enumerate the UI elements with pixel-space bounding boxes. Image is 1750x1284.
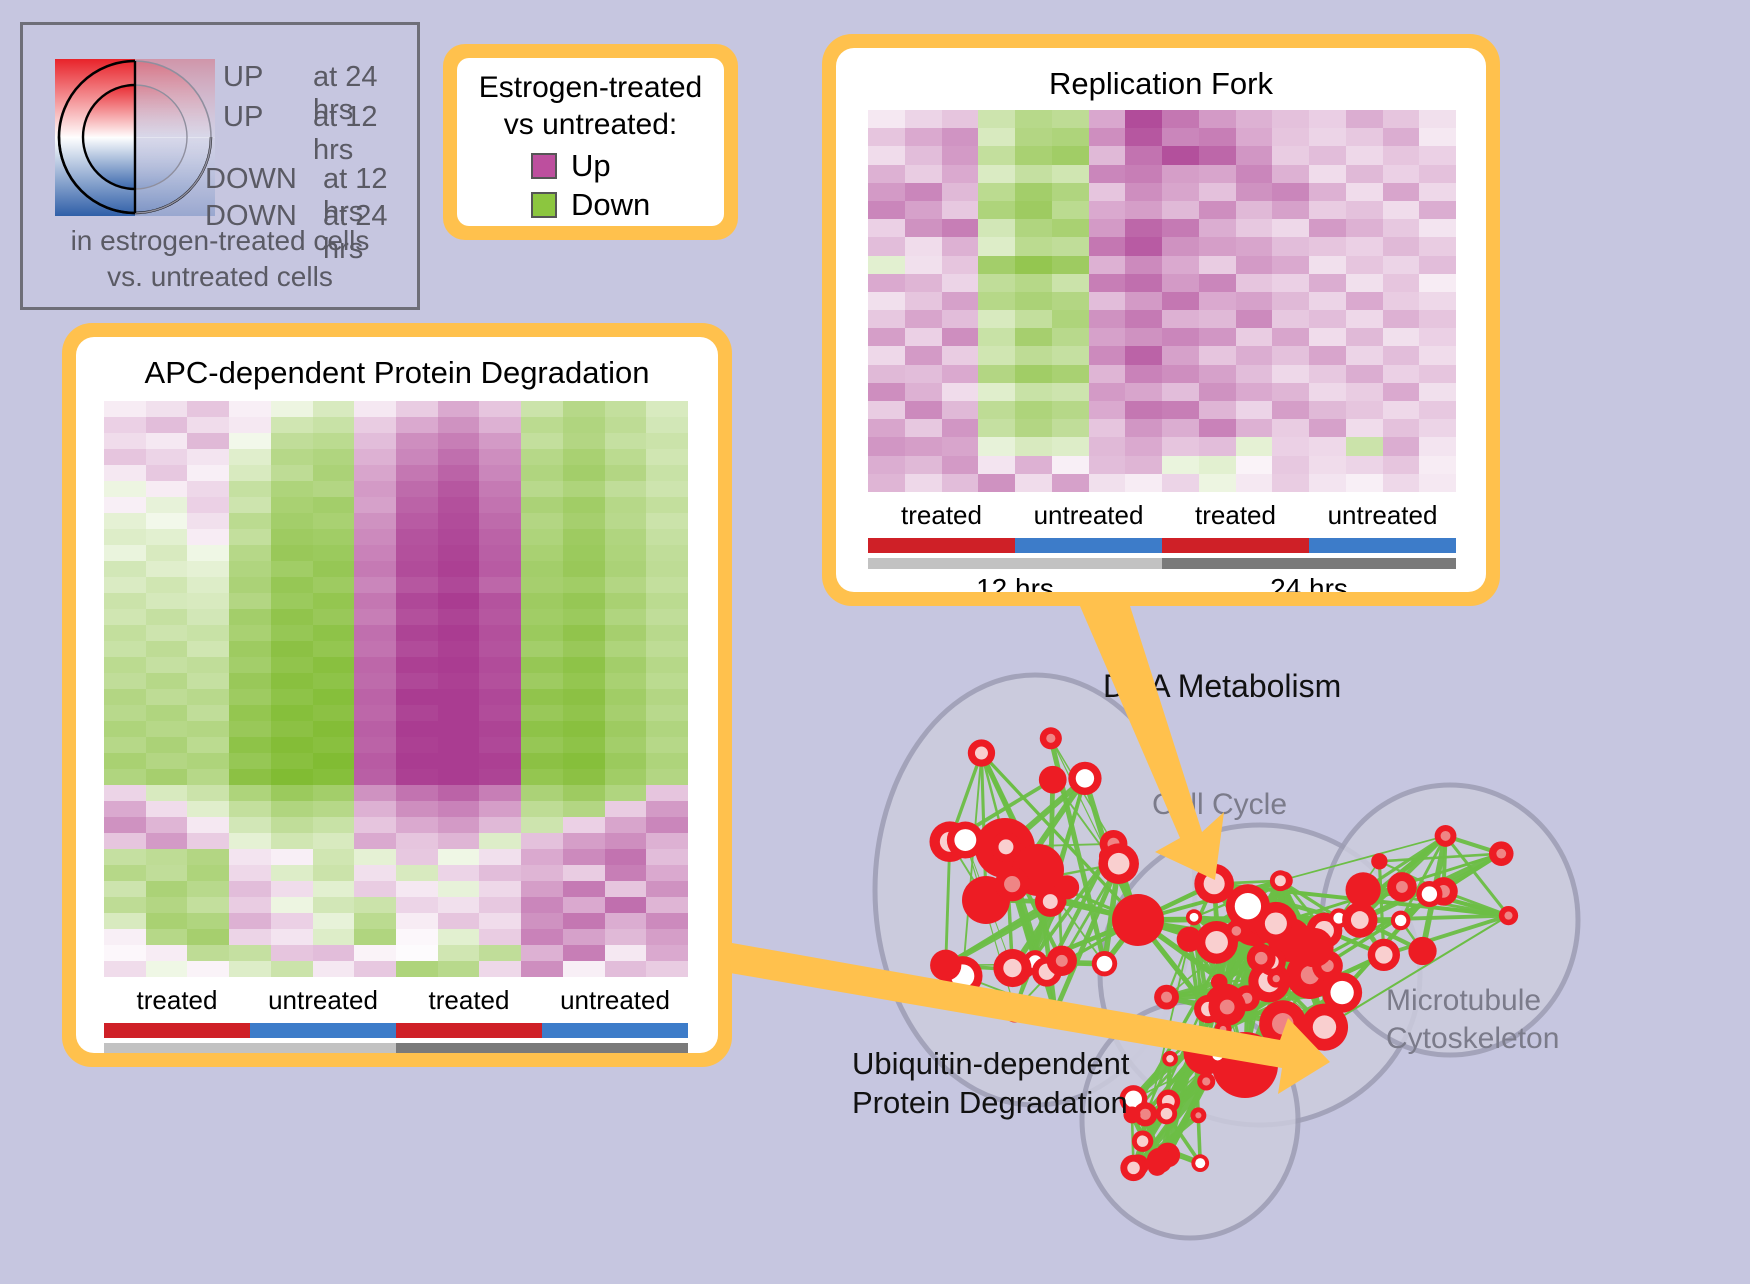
heatmap-cell (521, 721, 563, 737)
heatmap-cell (438, 465, 480, 481)
treatment-bar-segment (250, 1023, 396, 1038)
heatmap-cell (146, 481, 188, 497)
heatmap-cell (354, 945, 396, 961)
heatmap-cell (313, 497, 355, 513)
heatmap-cell (271, 689, 313, 705)
heatmap-cell (868, 474, 905, 492)
heatmap-cell (978, 365, 1015, 383)
heatmap-cell (1089, 401, 1126, 419)
heatmap-cell (187, 737, 229, 753)
heatmap-cell (146, 801, 188, 817)
replication-fork-heatmap (868, 110, 1456, 492)
heatmap-cell (354, 961, 396, 977)
heatmap-cell (521, 625, 563, 641)
heatmap-cell (187, 785, 229, 801)
heatmap-cell (354, 785, 396, 801)
heatmap-cell (438, 497, 480, 513)
heatmap-cell (438, 705, 480, 721)
heatmap-cell (1272, 237, 1309, 255)
heatmap-cell (868, 310, 905, 328)
heatmap-cell (868, 237, 905, 255)
heatmap-cell (942, 437, 979, 455)
heatmap-cell (104, 817, 146, 833)
heatmap-cell (942, 419, 979, 437)
heatmap-cell (521, 481, 563, 497)
heatmap-cell (313, 929, 355, 945)
heatmap-cell (1383, 128, 1420, 146)
heatmap-cell (521, 561, 563, 577)
time-bar-segment (1162, 558, 1456, 569)
heatmap-cell (271, 753, 313, 769)
heatmap-cell (354, 737, 396, 753)
heatmap-cell (1236, 183, 1273, 201)
heatmap-cell (104, 961, 146, 977)
heatmap-cell (1199, 274, 1236, 292)
network-node-core (1265, 912, 1287, 934)
heatmap-cell (104, 705, 146, 721)
heatmap-cell (1419, 474, 1456, 492)
heatmap-cell (605, 721, 647, 737)
heatmap-cell (1089, 110, 1126, 128)
heatmap-cell (646, 913, 688, 929)
heatmap-cell (1236, 474, 1273, 492)
network-node-core (1273, 975, 1280, 982)
heatmap-cell (646, 657, 688, 673)
heatmap-cell (479, 913, 521, 929)
heatmap-cell (1199, 419, 1236, 437)
heatmap-cell (1162, 310, 1199, 328)
legend-item-down: Down (531, 189, 650, 220)
heatmap-cell (313, 721, 355, 737)
heatmap-cell (978, 274, 1015, 292)
heatmap-cell (396, 737, 438, 753)
legend-label-up: Up (571, 150, 611, 181)
heatmap-cell (1015, 383, 1052, 401)
heatmap-cell (146, 929, 188, 945)
heatmap-cell (438, 849, 480, 865)
heatmap-cell (1089, 419, 1126, 437)
heatmap-cell (354, 577, 396, 593)
network-node-core (1212, 1050, 1223, 1061)
heatmap-cell (868, 383, 905, 401)
heatmap-cell (313, 545, 355, 561)
heatmap-cell (1346, 256, 1383, 274)
heatmap-cell (479, 449, 521, 465)
cluster-label-ubiquitin-degradation: Ubiquitin-dependent Protein Degradation (852, 1045, 1130, 1123)
heatmap-cell (1015, 237, 1052, 255)
heatmap-cell (104, 593, 146, 609)
heatmap-cell (438, 545, 480, 561)
heatmap-cell (1125, 256, 1162, 274)
heatmap-cell (1199, 219, 1236, 237)
heatmap-cell (1199, 365, 1236, 383)
apc-time-bar (104, 1043, 688, 1053)
heatmap-cell (1383, 383, 1420, 401)
apc-group-labels: treateduntreatedtreateduntreated (104, 985, 688, 1019)
heatmap-cell (1236, 419, 1273, 437)
heatmap-cell (1052, 456, 1089, 474)
heatmap-cell (868, 201, 905, 219)
heatmap-cell (1089, 456, 1126, 474)
heatmap-cell (187, 401, 229, 417)
heatmap-cell (104, 913, 146, 929)
time-bar-segment (104, 1043, 396, 1053)
heatmap-cell (396, 929, 438, 945)
network-node-core (1190, 913, 1199, 922)
heatmap-cell (1015, 183, 1052, 201)
heatmap-cell (1383, 474, 1420, 492)
heatmap-cell (146, 417, 188, 433)
heatmap-cell (1052, 310, 1089, 328)
heatmap-cell (313, 417, 355, 433)
heatmap-cell (146, 641, 188, 657)
heatmap-cell (978, 128, 1015, 146)
heatmap-cell (354, 705, 396, 721)
network-node-core (1255, 952, 1268, 965)
replication-fork-group-labels: treateduntreatedtreateduntreated (868, 500, 1456, 534)
heatmap-cell (1309, 437, 1346, 455)
heatmap-cell (396, 513, 438, 529)
heatmap-cell (1346, 419, 1383, 437)
axis-group-label: treated (1195, 500, 1276, 531)
heatmap-cell (354, 833, 396, 849)
heatmap-cell (905, 419, 942, 437)
heatmap-cell (104, 689, 146, 705)
heatmap-cell (905, 365, 942, 383)
heatmap-cell (605, 785, 647, 801)
heatmap-cell (1199, 165, 1236, 183)
heatmap-cell (229, 401, 271, 417)
heatmap-cell (313, 961, 355, 977)
heatmap-cell (313, 433, 355, 449)
heatmap-cell (271, 641, 313, 657)
network-node (1003, 998, 1028, 1023)
heatmap-cell (271, 721, 313, 737)
heatmap-cell (1162, 274, 1199, 292)
heatmap-cell (1309, 346, 1346, 364)
network-node-core (1195, 1158, 1205, 1168)
heatmap-cell (313, 881, 355, 897)
heatmap-cell (354, 545, 396, 561)
heatmap-cell (1346, 310, 1383, 328)
heatmap-cell (229, 417, 271, 433)
heatmap-cell (1419, 219, 1456, 237)
heatmap-cell (396, 609, 438, 625)
heatmap-cell (479, 833, 521, 849)
heatmap-cell (271, 673, 313, 689)
heatmap-cell (187, 513, 229, 529)
heatmap-cell (479, 465, 521, 481)
heatmap-cell (978, 310, 1015, 328)
heatmap-cell (104, 497, 146, 513)
heatmap-cell (1346, 219, 1383, 237)
heatmap-cell (354, 481, 396, 497)
heatmap-cell (868, 456, 905, 474)
axis-group-label: treated (901, 500, 982, 531)
heatmap-cell (905, 219, 942, 237)
heatmap-cell (438, 625, 480, 641)
treatment-bar-segment (1162, 538, 1309, 553)
heatmap-cell (1089, 165, 1126, 183)
heatmap-cell (354, 433, 396, 449)
heatmap-cell (868, 256, 905, 274)
heatmap-cell (313, 769, 355, 785)
heatmap-cell (438, 609, 480, 625)
heatmap-cell (605, 529, 647, 545)
heatmap-cell (942, 456, 979, 474)
heatmap-cell (104, 561, 146, 577)
heatmap-cell (563, 513, 605, 529)
heatmap-cell (146, 513, 188, 529)
heatmap-cell (1346, 365, 1383, 383)
heatmap-cell (396, 897, 438, 913)
heatmap-cell (1162, 146, 1199, 164)
heatmap-cell (104, 753, 146, 769)
heatmap-cell (1052, 328, 1089, 346)
heatmap-cell (479, 881, 521, 897)
heatmap-cell (187, 881, 229, 897)
heatmap-cell (313, 609, 355, 625)
heatmap-cell (1236, 310, 1273, 328)
heatmap-cell (187, 913, 229, 929)
network-node-core (1375, 946, 1392, 963)
heatmap-cell (229, 817, 271, 833)
heatmap-cell (438, 433, 480, 449)
heatmap-cell (563, 945, 605, 961)
heatmap-cell (479, 705, 521, 721)
heatmap-cell (905, 456, 942, 474)
heatmap-cell (521, 945, 563, 961)
heatmap-cell (646, 561, 688, 577)
mt-line2: Cytoskeleton (1386, 1020, 1559, 1058)
axis-group-label: untreated (1034, 500, 1144, 531)
heatmap-cell (521, 545, 563, 561)
heatmap-cell (1162, 437, 1199, 455)
heatmap-cell (1089, 183, 1126, 201)
heatmap-cell (146, 737, 188, 753)
heatmap-cell (646, 481, 688, 497)
heatmap-cell (479, 625, 521, 641)
heatmap-cell (563, 785, 605, 801)
heatmap-cell (438, 881, 480, 897)
heatmap-cell (563, 753, 605, 769)
heatmap-cell (479, 737, 521, 753)
heatmap-cell (905, 292, 942, 310)
heatmap-cell (479, 897, 521, 913)
heatmap-cell (521, 833, 563, 849)
heatmap-cell (438, 673, 480, 689)
heatmap-cell (271, 401, 313, 417)
heatmap-cell (313, 753, 355, 769)
network-node-core (1422, 886, 1437, 901)
heatmap-cell (521, 401, 563, 417)
heatmap-cell (605, 881, 647, 897)
network-node-core (1202, 1077, 1210, 1085)
heatmap-cell (271, 417, 313, 433)
heatmap-cell (521, 769, 563, 785)
heatmap-cell (1125, 110, 1162, 128)
network-node (1408, 937, 1436, 965)
heatmap-cell (521, 689, 563, 705)
heatmap-cell (438, 641, 480, 657)
heatmap-cell (1162, 474, 1199, 492)
network-node-core (998, 839, 1013, 854)
heatmap-cell (605, 545, 647, 561)
heatmap-cell (396, 641, 438, 657)
heatmap-cell (146, 753, 188, 769)
heatmap-cell (1346, 401, 1383, 419)
heatmap-cell (1236, 401, 1273, 419)
heatmap-cell (396, 433, 438, 449)
network-node-core (1161, 992, 1172, 1003)
heatmap-cell (978, 201, 1015, 219)
heatmap-cell (146, 433, 188, 449)
heatmap-cell (229, 465, 271, 481)
heatmap-cell (1236, 219, 1273, 237)
heatmap-cell (1015, 310, 1052, 328)
heatmap-cell (479, 609, 521, 625)
heatmap-cell (229, 705, 271, 721)
heatmap-cell (271, 913, 313, 929)
heatmap-cell (521, 465, 563, 481)
heatmap-cell (1162, 165, 1199, 183)
heatmap-cell (187, 865, 229, 881)
heatmap-cell (1125, 146, 1162, 164)
heatmap-cell (146, 465, 188, 481)
heatmap-cell (396, 465, 438, 481)
heatmap-cell (104, 417, 146, 433)
heatmap-cell (271, 865, 313, 881)
heatmap-cell (646, 577, 688, 593)
heatmap-cell (1346, 165, 1383, 183)
heatmap-cell (187, 481, 229, 497)
heatmap-cell (605, 433, 647, 449)
heatmap-cell (104, 641, 146, 657)
heatmap-cell (905, 110, 942, 128)
heatmap-cell (1272, 110, 1309, 128)
heatmap-cell (646, 929, 688, 945)
heatmap-cell (271, 945, 313, 961)
heatmap-cell (396, 849, 438, 865)
network-node (1294, 928, 1333, 967)
heatmap-cell (354, 817, 396, 833)
heatmap-cell (104, 673, 146, 689)
heatmap-cell (978, 383, 1015, 401)
apc-panel: APC-dependent Protein Degradation treate… (62, 323, 732, 1067)
heatmap-cell (1199, 346, 1236, 364)
heatmap-cell (271, 433, 313, 449)
heatmap-cell (1419, 365, 1456, 383)
heatmap-cell (479, 433, 521, 449)
network-node-core (1003, 959, 1021, 977)
heatmap-cell (942, 146, 979, 164)
heatmap-cell (1199, 183, 1236, 201)
heatmap-cell (396, 801, 438, 817)
time-bar-segment (396, 1043, 688, 1053)
heatmap-cell (187, 833, 229, 849)
heatmap-cell (978, 401, 1015, 419)
heatmap-cell (942, 383, 979, 401)
heatmap-cell (1309, 401, 1346, 419)
heatmap-cell (868, 437, 905, 455)
heatmap-cell (1089, 346, 1126, 364)
heatmap-cell (605, 961, 647, 977)
heatmap-cell (104, 737, 146, 753)
heatmap-cell (1272, 419, 1309, 437)
color-key-box: UP at 24 hrs UP at 12 hrs DOWN at 12 hrs… (20, 22, 420, 310)
heatmap-cell (104, 849, 146, 865)
heatmap-cell (187, 497, 229, 513)
heatmap-cell (396, 577, 438, 593)
heatmap-cell (271, 481, 313, 497)
heatmap-cell (646, 433, 688, 449)
heatmap-cell (229, 865, 271, 881)
heatmap-cell (354, 529, 396, 545)
heatmap-cell (563, 705, 605, 721)
heatmap-cell (1309, 474, 1346, 492)
heatmap-cell (187, 465, 229, 481)
heatmap-cell (187, 577, 229, 593)
heatmap-cell (605, 929, 647, 945)
heatmap-cell (563, 865, 605, 881)
heatmap-cell (646, 465, 688, 481)
heatmap-cell (1015, 165, 1052, 183)
heatmap-cell (104, 785, 146, 801)
heatmap-cell (1309, 128, 1346, 146)
heatmap-cell (1383, 310, 1420, 328)
heatmap-cell (479, 849, 521, 865)
treatment-bar-segment (396, 1023, 542, 1038)
heatmap-cell (978, 146, 1015, 164)
heatmap-cell (1236, 437, 1273, 455)
heatmap-cell (313, 801, 355, 817)
heatmap-cell (1346, 237, 1383, 255)
network-node (930, 950, 961, 981)
heatmap-cell (229, 849, 271, 865)
heatmap-cell (229, 481, 271, 497)
heatmap-cell (978, 456, 1015, 474)
heatmap-cell (187, 593, 229, 609)
heatmap-cell (868, 365, 905, 383)
heatmap-cell (104, 577, 146, 593)
heatmap-cell (1383, 292, 1420, 310)
heatmap-cell (1309, 292, 1346, 310)
heatmap-cell (521, 417, 563, 433)
heatmap-cell (479, 801, 521, 817)
network-node-core (1204, 873, 1225, 894)
heatmap-cell (1419, 292, 1456, 310)
heatmap-cell (1052, 274, 1089, 292)
heatmap-cell (438, 961, 480, 977)
heatmap-cell (271, 769, 313, 785)
heatmap-cell (1383, 165, 1420, 183)
heatmap-cell (354, 913, 396, 929)
treatment-bar-segment (1309, 538, 1456, 553)
heatmap-cell (313, 449, 355, 465)
heatmap-cell (1052, 201, 1089, 219)
heatmap-cell (978, 328, 1015, 346)
heatmap-cell (1346, 437, 1383, 455)
heatmap-cell (646, 545, 688, 561)
network-node-core (1313, 1015, 1336, 1038)
heatmap-cell (396, 593, 438, 609)
heatmap-cell (438, 401, 480, 417)
heatmap-cell (229, 769, 271, 785)
heatmap-cell (1162, 237, 1199, 255)
heatmap-cell (1162, 365, 1199, 383)
heatmap-cell (1015, 128, 1052, 146)
heatmap-cell (942, 310, 979, 328)
